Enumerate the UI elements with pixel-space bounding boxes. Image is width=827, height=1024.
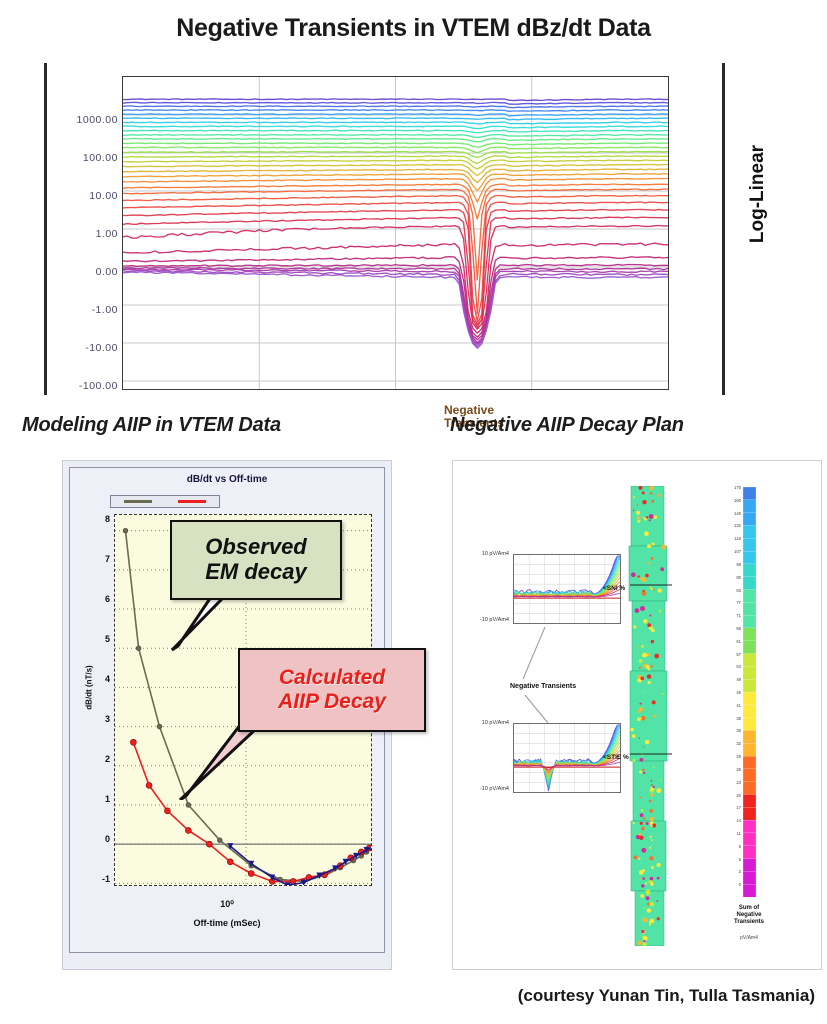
colorbar-tick: 23 xyxy=(736,780,741,785)
colorbar-tick: 49 xyxy=(736,677,741,682)
y-tick-1: 1.00 xyxy=(96,228,118,240)
colorbar xyxy=(743,487,756,897)
colorbar-tick: 61 xyxy=(736,639,741,644)
colorbar-tick-labels: 1751601461321181079890837771666157534945… xyxy=(721,485,741,899)
callout-observed-em-decay: Observed EM decay xyxy=(170,520,342,600)
panel-right-rule xyxy=(722,63,725,395)
colorbar-tick: 20 xyxy=(736,793,741,798)
colorbar-caption-line3: Transients xyxy=(725,919,773,926)
callout-calc-line1: Calculated xyxy=(279,666,385,690)
l-ytick-0: 0 xyxy=(105,834,110,844)
courtesy-credit: (courtesy Yunan Tin, Tulla Tasmania) xyxy=(0,986,815,1006)
colorbar-tick: 132 xyxy=(734,523,741,528)
y-tick-neg1: -1.00 xyxy=(92,304,118,316)
inset-bottom-ymin-label: -10 pV/Am4 xyxy=(459,786,509,792)
colorbar-tick: 14 xyxy=(736,818,741,823)
vtem-decay-chart xyxy=(122,76,669,390)
y-tick-100: 100.00 xyxy=(83,152,118,164)
section-heading-decay-plan: Negative AIIP Decay Plan xyxy=(450,414,684,437)
colorbar-tick: 66 xyxy=(736,626,741,631)
section-heading-modeling: Modeling AIIP in VTEM Data xyxy=(22,414,281,437)
colorbar-tick: 107 xyxy=(734,549,741,554)
callout-observed-line1: Observed xyxy=(205,535,307,560)
colorbar-tick: 17 xyxy=(736,805,741,810)
colorbar-units: pV/Am4 xyxy=(725,935,773,941)
colorbar-tick: 57 xyxy=(736,652,741,657)
y-tick-10: 10.00 xyxy=(89,190,118,202)
colorbar-tick: 8 xyxy=(739,844,741,849)
top-chart-panel: Log-Linear 1000.00 100.00 10.00 1.00 0.0… xyxy=(44,63,744,403)
colorbar-tick: 26 xyxy=(736,767,741,772)
survey-strip-map xyxy=(628,486,673,946)
left-chart-x-tick: 10⁰ xyxy=(70,899,384,910)
colorbar-tick: 0 xyxy=(739,882,741,887)
colorbar-tick: 5 xyxy=(739,857,741,862)
colorbar-tick: 35 xyxy=(736,728,741,733)
callout-calculated-aiip-decay: Calculated AIIP Decay xyxy=(238,648,426,732)
colorbar-tick: 53 xyxy=(736,664,741,669)
colorbar-tick: 45 xyxy=(736,690,741,695)
colorbar-caption: Sum of Negative Transients xyxy=(725,905,773,927)
strip-annotation-bottom: <STIE % xyxy=(603,754,629,761)
colorbar-tick: 29 xyxy=(736,754,741,759)
inset-negative-transients-label: Negative Transients xyxy=(510,683,576,690)
decay-plan-figure: 10 pV/Am4 -10 pV/Am4 10 pV/Am4 -10 pV/Am… xyxy=(452,460,822,970)
colorbar-tick: 41 xyxy=(736,703,741,708)
y-tick-neg10: -10.00 xyxy=(85,342,118,354)
page-title: Negative Transients in VTEM dBz/dt Data xyxy=(0,14,827,43)
colorbar-tick: 83 xyxy=(736,588,741,593)
colorbar-tick: 38 xyxy=(736,716,741,721)
y-tick-1000: 1000.00 xyxy=(77,114,118,126)
top-chart-y-axis: 1000.00 100.00 10.00 1.00 0.00 -1.00 -10… xyxy=(44,76,118,388)
colorbar-tick: 98 xyxy=(736,562,741,567)
colorbar-tick: 118 xyxy=(734,536,741,541)
log-linear-axis-label: Log-Linear xyxy=(747,134,769,254)
inset-bottom-ymax-label: 10 pV/Am4 xyxy=(459,720,509,726)
inset-top-ymin-label: -10 pV/Am4 xyxy=(459,617,509,623)
colorbar-tick: 11 xyxy=(737,831,741,836)
colorbar-tick: 77 xyxy=(736,600,741,605)
left-chart-title: dB/dt vs Off-time xyxy=(70,474,384,485)
left-chart-x-title: Off-time (mSec) xyxy=(70,918,384,928)
colorbar-caption-line2: Negative xyxy=(725,912,773,919)
colorbar-tick: 175 xyxy=(734,485,741,490)
inset-top-ymax-label: 10 pV/Am4 xyxy=(459,551,509,557)
l-ytick-neg1: -1 xyxy=(102,874,110,884)
y-tick-0: 0.00 xyxy=(96,266,118,278)
callout-calc-line2: AIIP Decay xyxy=(278,690,386,714)
strip-annotation-top: <SNI % xyxy=(603,585,625,592)
y-tick-neg100: -100.00 xyxy=(79,380,118,392)
vtem-decay-svg xyxy=(123,77,668,389)
colorbar-tick: 146 xyxy=(734,511,741,516)
callout-observed-line2: EM decay xyxy=(205,560,307,585)
colorbar-tick: 160 xyxy=(734,498,741,503)
colorbar-tick: 32 xyxy=(736,741,741,746)
colorbar-caption-line1: Sum of xyxy=(725,905,773,912)
colorbar-tick: 71 xyxy=(736,613,741,618)
colorbar-tick: 90 xyxy=(736,575,741,580)
colorbar-tick: 2 xyxy=(739,869,741,874)
